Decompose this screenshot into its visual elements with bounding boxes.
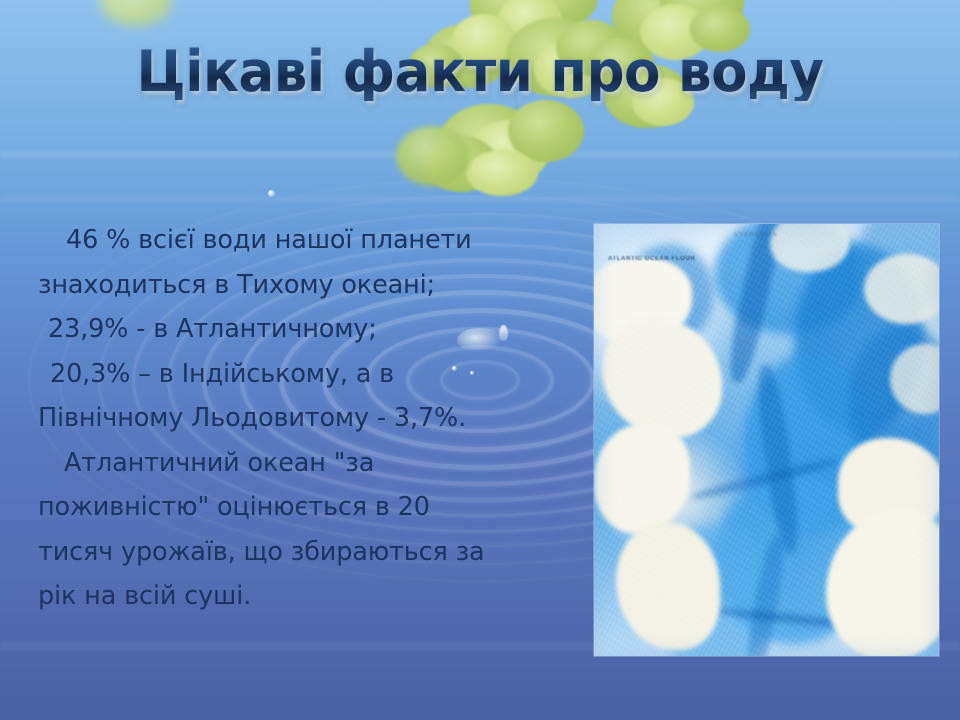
body-line: 23,9% - в Атлантичному; [38, 307, 590, 352]
map-vignette [594, 224, 939, 656]
body-line: поживністю" оцінюється в 20 [38, 485, 590, 530]
water-sheen [0, 150, 960, 159]
body-line: Північному Льодовитому - 3,7%. [38, 396, 590, 441]
water-bubble [268, 190, 275, 197]
slide-title: Цікаві факти про воду [34, 44, 927, 101]
body-line: рік на всій суші. [38, 574, 590, 619]
presentation-slide: Цікаві факти про воду 46 % всієї води на… [0, 0, 960, 720]
body-line: Атлантичний океан "за [38, 441, 590, 486]
body-line: тисяч урожаїв, що збираються за [38, 530, 590, 575]
body-text: 46 % всієї води нашої планети знаходитьс… [38, 218, 590, 619]
water-sheen [0, 196, 960, 202]
map-label-atlantic-ocean-floor: ATLANTIC OCEAN FLOOR [608, 256, 696, 262]
map-label-norwegian: NORWEGIAN [734, 232, 778, 238]
body-line: знаходиться в Тихому океані; [38, 263, 590, 308]
body-line: 46 % всієї води нашої планети [38, 218, 590, 263]
atlantic-ocean-floor-map-image: ATLANTIC OCEAN FLOOR NORWEGIAN [594, 224, 939, 656]
body-line: 20,3% – в Індійському, а в [38, 352, 590, 397]
